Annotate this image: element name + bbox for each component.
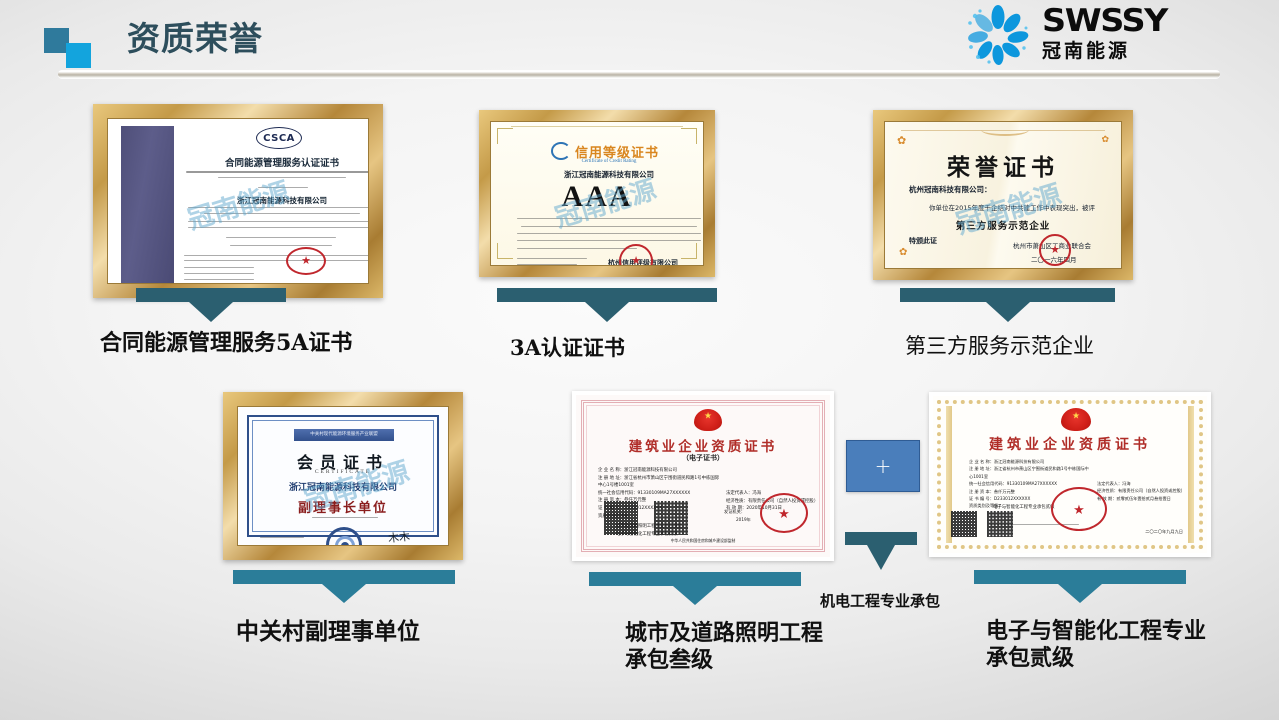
brand-logo: SWSSY 冠南能源 — [962, 4, 1217, 68]
certificate-card-construction-b[interactable]: 建筑业企业资质证书 企 业 名 称：浙江冠南能源科技有限公司 注 册 地 址：浙… — [929, 392, 1211, 557]
brand-text: SWSSY 冠南能源 — [1042, 4, 1217, 64]
cert-issuer: 发证机关： — [724, 509, 745, 515]
brand-cn: 冠南能源 — [1042, 38, 1217, 64]
add-button[interactable]: + — [846, 440, 920, 492]
red-seal — [619, 244, 653, 266]
plus-icon: + — [875, 456, 892, 476]
cert-role: 副理事长单位 — [238, 497, 448, 516]
certificate-card-construction-a[interactable]: 建筑业企业资质证书 （电子证书） 企 业 名 称：浙江冠南能源科技有限公司 注 … — [572, 391, 834, 561]
brand-latin: SWSSY — [1042, 4, 1231, 38]
credit-logo-icon — [551, 142, 571, 160]
caption-construction-b: 电子与智能化工程专业承包贰级 — [986, 618, 1216, 672]
red-seal — [1051, 487, 1107, 531]
red-seal — [760, 493, 808, 533]
caption-third-party: 第三方服务示范企业 — [905, 334, 1165, 360]
cert-org: 浙江冠南能源科技有限公司 — [531, 169, 687, 180]
caption-member: 中关村副理事单位 — [236, 618, 516, 646]
qr-code — [604, 501, 638, 535]
national-emblem-icon — [694, 409, 722, 431]
arrow-3a — [497, 288, 717, 322]
cert-org: 杭州冠南科技有限公司： — [909, 184, 992, 195]
cert-title: 合同能源管理服务认证证书 — [182, 155, 369, 169]
cert-body: 你单位在2015年度千企结对中共建工作中表现突出，被评 — [929, 202, 1095, 212]
cert-fields-right: 法定代表人：冯海 经济性质：有限责任公司（自然人投资或控股） 有 效 期：贰零贰… — [1097, 480, 1201, 502]
slide-canvas: 资质荣誉 — [0, 0, 1279, 720]
cert-org: 浙江冠南能源科技有限公司 — [196, 195, 368, 206]
arrow-5a — [136, 288, 286, 322]
cert-title-en: Certificate of Credit Rating — [553, 159, 665, 164]
cert-date: 2019年 — [736, 517, 751, 523]
cert-org: 浙江冠南能源科技有限公司 — [238, 480, 448, 493]
signature: 木木 — [387, 528, 411, 546]
certificate-card-member[interactable]: 中关村现代能源环境服务产业联盟 会员证书 CERTIFICATE 浙江冠南能源科… — [223, 392, 463, 560]
cert-title: 建筑业企业资质证书 — [576, 435, 830, 455]
cert-title: 荣誉证书 — [885, 148, 1121, 182]
caption-3a: 3A认证证书 — [510, 335, 770, 361]
page-title: 资质荣誉 — [127, 17, 263, 61]
cert-title: 建筑业企业资质证书 — [933, 434, 1207, 454]
cert-grades: 城市及道路照明工程专业承包叁级 电子与智能化工程专业承包贰级 — [616, 523, 776, 539]
cert-date: 二〇二〇年九月九日 — [1145, 529, 1183, 535]
arrow-construction-a — [589, 572, 801, 605]
header-square-light — [66, 43, 91, 68]
caption-construction-a: 城市及道路照明工程承包叁级 — [625, 620, 837, 674]
arrow-third-party — [900, 288, 1115, 322]
cert-title-en: CERTIFICATE — [238, 469, 448, 475]
qr-code — [951, 511, 977, 537]
cert-footer: 中华人民共和国住房和城乡建设部监制 — [576, 538, 830, 544]
arrow-member — [233, 570, 455, 603]
certificate-card-third-party[interactable]: ✿ ✿ ✿ 荣誉证书 杭州冠南科技有限公司： 你单位在2015年度千企结对中共建… — [873, 110, 1133, 280]
red-seal — [1039, 234, 1071, 266]
cert-grade: AAA — [491, 180, 703, 214]
certificate-card-3a[interactable]: 信用等级证书 Certificate of Credit Rating 浙江冠南… — [479, 110, 715, 277]
cert-note: 特颁此证 — [909, 236, 937, 246]
caption-5a: 合同能源管理服务5A证书 — [100, 330, 400, 357]
csca-badge: CSCA — [256, 127, 302, 149]
qr-code — [987, 511, 1013, 537]
cert-subtitle: （电子证书） — [576, 453, 830, 463]
ribbon-text: 中关村现代能源环境服务产业联盟 — [294, 429, 394, 441]
caption-extra-label: 机电工程专业承包 — [820, 592, 1020, 610]
qr-code — [654, 501, 688, 535]
droplet-radial-icon — [962, 4, 1034, 66]
certificate-card-5a[interactable]: CSCA 合同能源管理服务认证证书 浙江冠南能源科技有限公司 — [93, 104, 383, 298]
arrow-extra-label — [845, 532, 917, 570]
header-divider — [58, 70, 1220, 78]
national-emblem-icon — [1061, 408, 1091, 431]
cert-award: 第三方服务示范企业 — [885, 218, 1121, 232]
red-seal — [286, 247, 326, 275]
